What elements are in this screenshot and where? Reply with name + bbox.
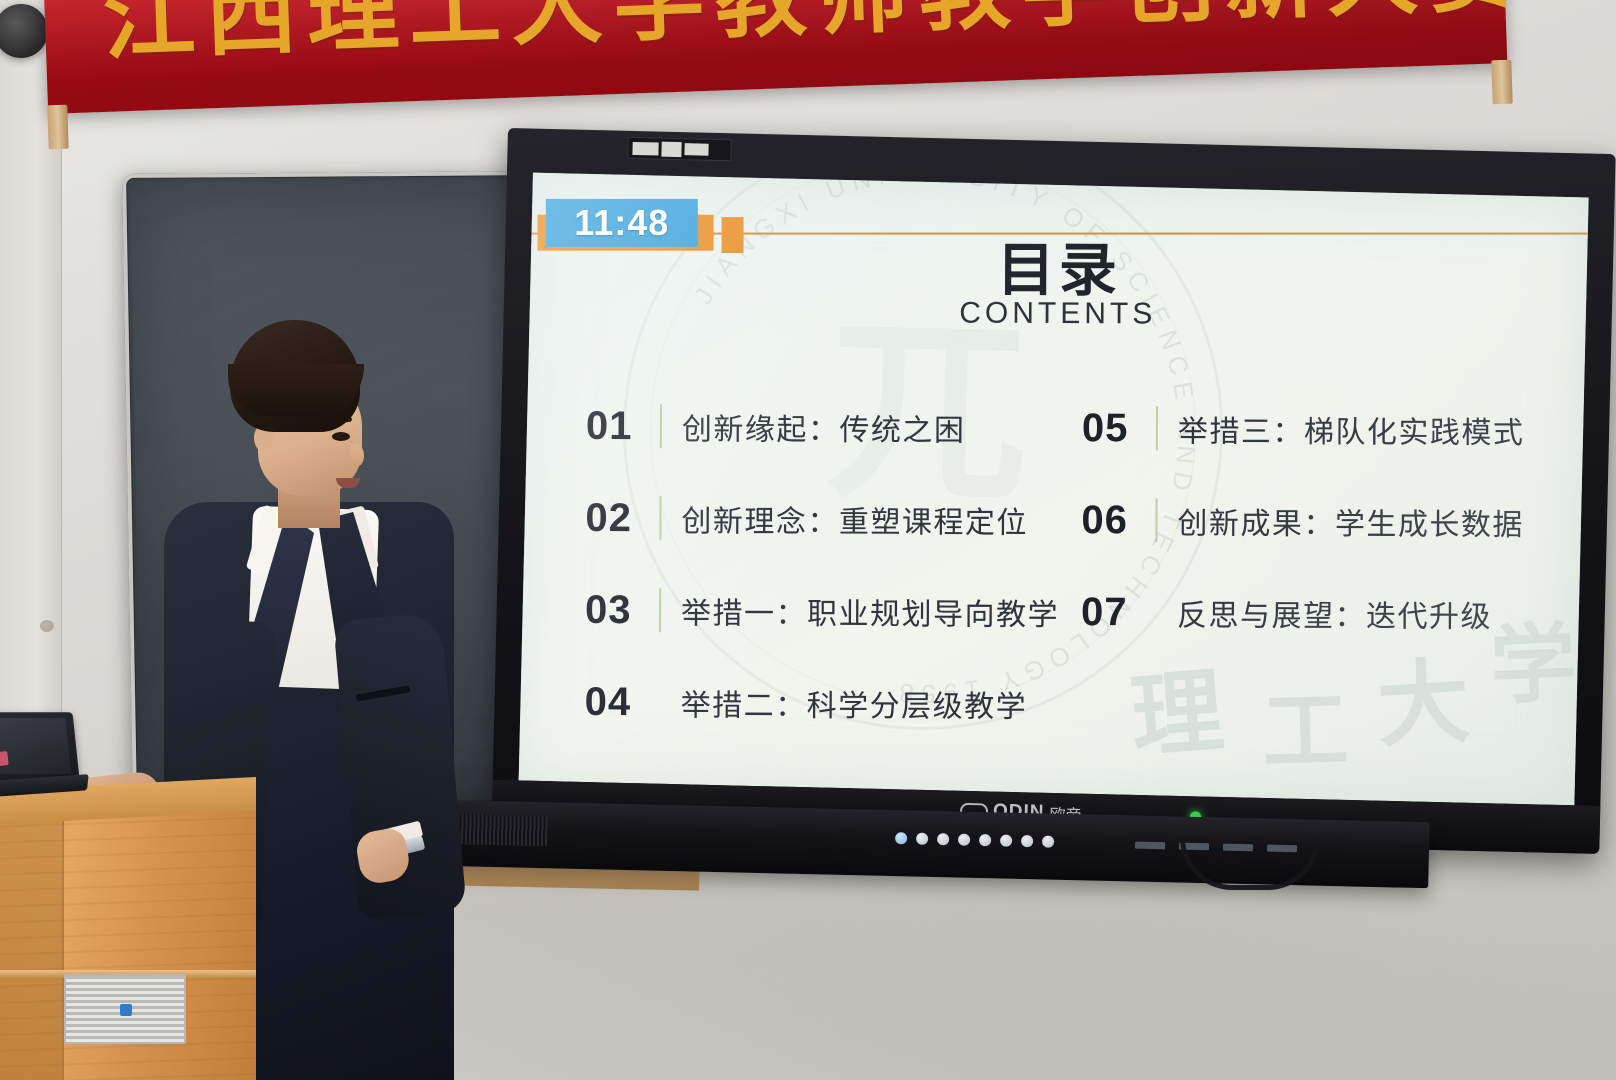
toc-item[interactable]: 02 创新理念：重塑课程定位 [585,472,1055,566]
laptop-sticker [0,751,9,767]
presenter-laptop[interactable] [0,712,92,804]
toc-number: 04 [585,679,659,724]
toc-number: 02 [585,495,659,540]
status-dot [979,834,991,846]
toc-divider [1155,498,1157,542]
toc-divider [1156,406,1158,450]
interactive-display[interactable]: JIANGXI UNIVERSITY OF SCIENCE AND TECHNO… [492,128,1616,854]
status-dot [937,833,949,845]
status-dot [1021,835,1033,847]
toc-item[interactable]: 07 反思与展望：迭代升级 [1081,566,1551,660]
toc-item[interactable]: 01 创新缘起：传统之困 [586,380,1056,474]
eye [332,432,350,441]
laptop-screen[interactable] [0,718,71,774]
label-box [661,141,681,156]
status-dot [1000,835,1012,847]
status-dot [1042,835,1054,847]
status-dot [895,832,907,844]
wall-chip [40,620,54,632]
status-indicator-row [895,832,1054,848]
port-icon[interactable] [1135,842,1165,850]
toc-divider [660,404,662,448]
toc-label: 举措一：职业规划导向教学 [681,588,1059,634]
slide-canvas[interactable]: JIANGXI UNIVERSITY OF SCIENCE AND TECHNO… [519,173,1589,806]
status-dot [958,834,970,846]
toc-column-left: 01 创新缘起：传统之困 02 创新理念：重塑课程定位 03 举措一：职业规划导… [584,380,1056,750]
status-dot [916,833,928,845]
toc-item[interactable]: 05 举措三：梯队化实践模式 [1082,382,1552,476]
slide-subtitle: CONTENTS [530,295,1586,334]
toc-divider [659,680,661,724]
toc-divider [659,588,661,632]
toc-divider [659,496,661,540]
toc-label: 反思与展望：迭代升级 [1177,590,1492,635]
toc-item[interactable]: 06 创新成果：学生成长数据 [1081,474,1551,568]
toc-label: 创新缘起：传统之困 [682,404,966,449]
label-barcode [632,141,658,155]
toc-divider [1155,590,1157,634]
nose [350,444,364,466]
toc-number: 01 [586,403,660,448]
toc-number: 07 [1081,590,1155,635]
banner-rod-left [47,105,69,150]
toc-column-right: 05 举措三：梯队化实践模式 06 创新成果：学生成长数据 07 反思与展望：迭… [1081,382,1552,660]
toc-number: 03 [585,587,659,632]
display-top-label [627,137,731,161]
toc-label: 举措二：科学分层级教学 [681,680,1028,726]
lectern-podium [0,784,256,1080]
toc-label: 创新理念：重塑课程定位 [681,496,1028,542]
classroom-presentation-scene: 9:38:43 江西理工大学教师教学创新大赛 JIANGXI UNIVERSIT… [0,0,1616,1080]
table-of-contents: 01 创新缘起：传统之困 02 创新理念：重塑课程定位 03 举措一：职业规划导… [585,380,1547,744]
toc-item[interactable]: 04 举措二：科学分层级教学 [584,656,1054,750]
banner-rod-right [1491,60,1513,105]
toc-label: 创新成果：学生成长数据 [1177,498,1524,544]
toc-number: 06 [1081,498,1155,543]
toc-label: 举措三：梯队化实践模式 [1178,406,1525,452]
toc-item[interactable]: 03 举措一：职业规划导向教学 [585,564,1055,658]
podium-vent-logo-icon [120,1004,132,1016]
toc-number: 05 [1082,406,1156,451]
label-code [684,143,708,156]
